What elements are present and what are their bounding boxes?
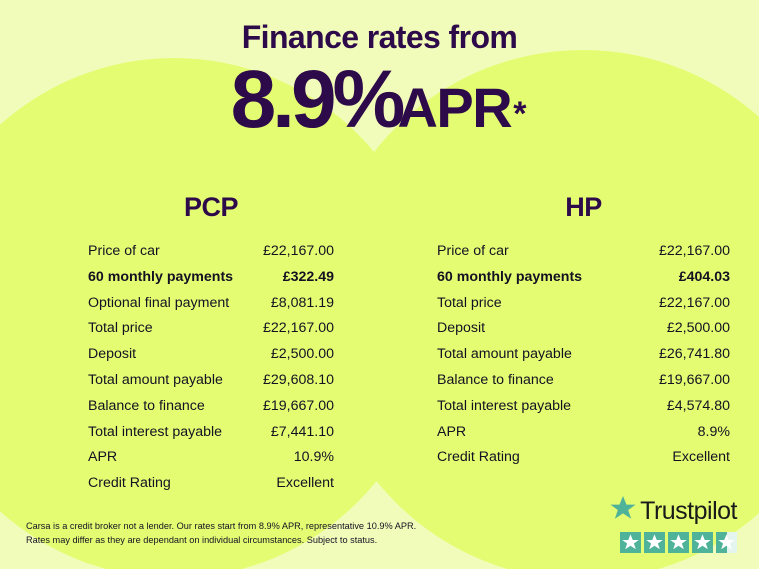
row-value: £2,500.00 — [271, 342, 334, 368]
row-value: £19,667.00 — [659, 368, 730, 394]
plan-title-hp: HP — [437, 192, 730, 223]
disclaimer-text: Carsa is a credit broker not a lender. O… — [26, 519, 446, 547]
disclaimer-line-2: Rates may differ as they are dependant o… — [26, 533, 446, 547]
finance-rates-poster: Finance rates from 8.9%APR* PCP Price of… — [0, 0, 759, 569]
row-value: £7,441.10 — [271, 420, 334, 446]
row-label: Total interest payable — [88, 420, 222, 446]
plan-rows-pcp: Price of car£22,167.0060 monthly payment… — [88, 239, 334, 497]
row-value: £22,167.00 — [263, 316, 334, 342]
row-label: Price of car — [437, 239, 509, 265]
table-row: Price of car£22,167.00 — [437, 239, 730, 265]
trustpilot-badge[interactable]: Trustpilot — [610, 496, 737, 553]
table-row: APR8.9% — [437, 420, 730, 446]
row-label: Price of car — [88, 239, 160, 265]
row-value: £22,167.00 — [659, 239, 730, 265]
row-value: £2,500.00 — [667, 316, 730, 342]
trustpilot-star-icon — [620, 532, 641, 553]
table-row: Total price£22,167.00 — [437, 291, 730, 317]
plan-rows-hp: Price of car£22,167.0060 monthly payment… — [437, 239, 730, 471]
trustpilot-star-icon — [716, 532, 737, 553]
trustpilot-star-icon — [692, 532, 713, 553]
table-row: APR10.9% — [88, 445, 334, 471]
table-row: Total interest payable£7,441.10 — [88, 420, 334, 446]
table-row: Deposit£2,500.00 — [88, 342, 334, 368]
row-label: APR — [437, 420, 466, 446]
trustpilot-star-icon — [610, 496, 636, 526]
row-label: Total amount payable — [88, 368, 223, 394]
row-value: £404.03 — [679, 265, 730, 291]
trustpilot-star-icon — [668, 532, 689, 553]
disclaimer-line-1: Carsa is a credit broker not a lender. O… — [26, 519, 446, 533]
row-label: Deposit — [88, 342, 136, 368]
row-value: Excellent — [276, 471, 334, 497]
rate-number: 8.9% — [231, 54, 402, 145]
trustpilot-star-rating — [610, 532, 737, 553]
table-row: Balance to finance£19,667.00 — [88, 394, 334, 420]
table-row: Total amount payable£29,608.10 — [88, 368, 334, 394]
plan-column-hp: HP Price of car£22,167.0060 monthly paym… — [379, 192, 758, 497]
headline-rate: 8.9%APR* — [0, 55, 759, 141]
row-label: Total interest payable — [437, 394, 571, 420]
page-title: Finance rates from — [0, 0, 759, 55]
row-label: 60 monthly payments — [437, 265, 582, 291]
table-row: Total amount payable£26,741.80 — [437, 342, 730, 368]
row-label: APR — [88, 445, 117, 471]
row-value: Excellent — [672, 445, 730, 471]
table-row: Total price£22,167.00 — [88, 316, 334, 342]
row-value: £4,574.80 — [667, 394, 730, 420]
table-row: Deposit£2,500.00 — [437, 316, 730, 342]
row-label: 60 monthly payments — [88, 265, 233, 291]
row-value: £19,667.00 — [263, 394, 334, 420]
row-value: 10.9% — [294, 445, 334, 471]
table-row: Credit RatingExcellent — [88, 471, 334, 497]
table-row: Balance to finance£19,667.00 — [437, 368, 730, 394]
table-row: Optional final payment£8,081.19 — [88, 291, 334, 317]
trustpilot-wordmark: Trustpilot — [610, 496, 737, 526]
row-label: Total amount payable — [437, 342, 572, 368]
asterisk-marker: * — [513, 95, 526, 133]
row-value: 8.9% — [698, 420, 730, 446]
row-label: Balance to finance — [88, 394, 205, 420]
row-label: Balance to finance — [437, 368, 554, 394]
trustpilot-label: Trustpilot — [640, 499, 737, 524]
table-row: Total interest payable£4,574.80 — [437, 394, 730, 420]
row-value: £26,741.80 — [659, 342, 730, 368]
table-row: 60 monthly payments£404.03 — [437, 265, 730, 291]
row-value: £8,081.19 — [271, 291, 334, 317]
trustpilot-star-icon — [644, 532, 665, 553]
table-row: Price of car£22,167.00 — [88, 239, 334, 265]
row-label: Optional final payment — [88, 291, 229, 317]
poster-header: Finance rates from 8.9%APR* — [0, 0, 759, 141]
row-value: £22,167.00 — [659, 291, 730, 317]
row-label: Credit Rating — [88, 471, 171, 497]
row-value: £22,167.00 — [263, 239, 334, 265]
row-value: £29,608.10 — [263, 368, 334, 394]
row-label: Deposit — [437, 316, 485, 342]
row-label: Total price — [437, 291, 502, 317]
row-value: £322.49 — [283, 265, 334, 291]
finance-comparison: PCP Price of car£22,167.0060 monthly pay… — [0, 192, 759, 497]
plan-column-pcp: PCP Price of car£22,167.0060 monthly pay… — [0, 192, 379, 497]
table-row: Credit RatingExcellent — [437, 445, 730, 471]
table-row: 60 monthly payments£322.49 — [88, 265, 334, 291]
row-label: Credit Rating — [437, 445, 520, 471]
plan-title-pcp: PCP — [88, 192, 334, 223]
rate-unit: APR — [397, 76, 511, 139]
row-label: Total price — [88, 316, 153, 342]
